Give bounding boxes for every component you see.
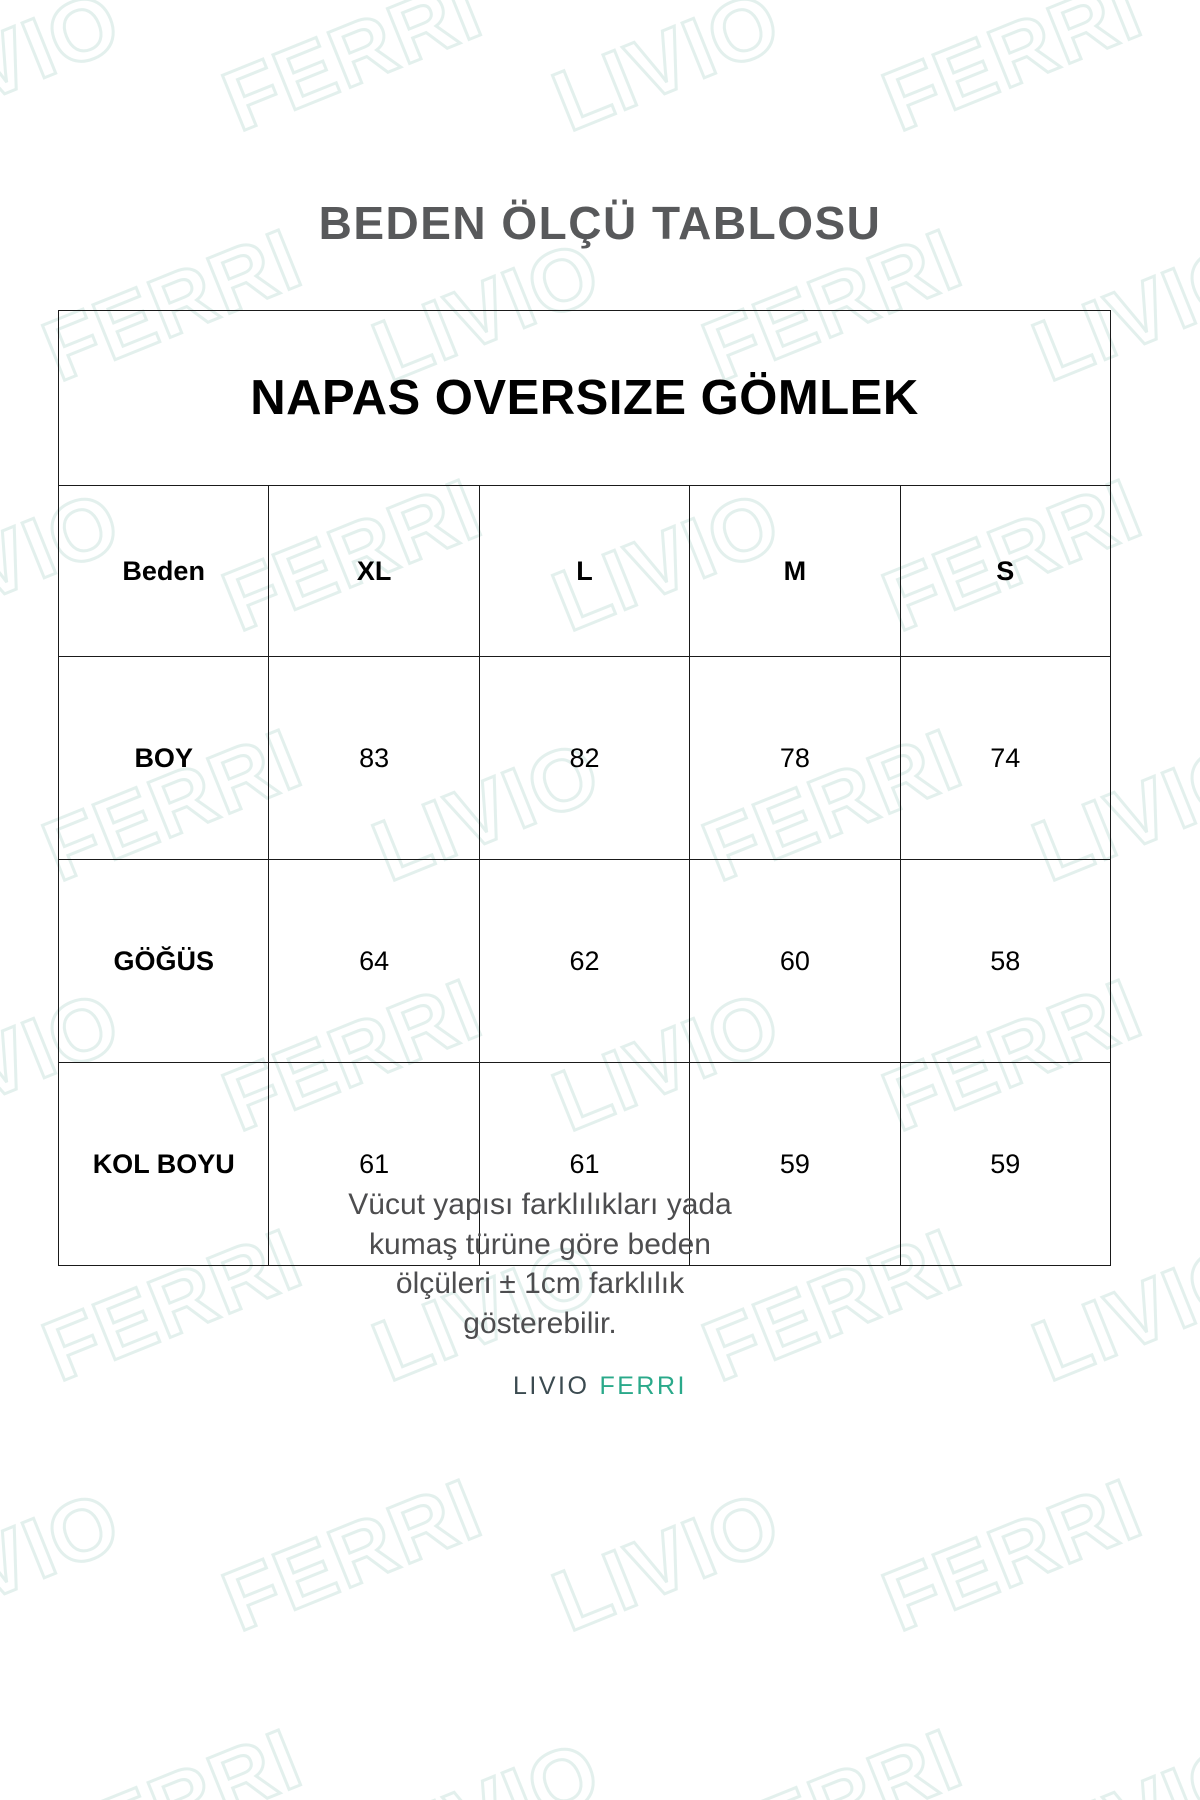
cell-gogus-xl: 64 (269, 860, 479, 1063)
cell-gogus-m: 60 (690, 860, 900, 1063)
product-name-row: NAPAS OVERSIZE GÖMLEK (59, 311, 1111, 486)
brand-logo-second: FERRI (599, 1372, 687, 1400)
table-header-row: Beden XL L M S (59, 486, 1111, 657)
brand-logo-first: LIVIO (513, 1372, 589, 1400)
product-name-cell: NAPAS OVERSIZE GÖMLEK (59, 311, 1111, 486)
cell-boy-m: 78 (690, 657, 900, 860)
table-row: GÖĞÜS 64 62 60 58 (59, 860, 1111, 1063)
footer-note-line-2: kumaş türüne göre beden (240, 1225, 840, 1265)
size-table-container: NAPAS OVERSIZE GÖMLEK Beden XL L M S BOY… (58, 310, 1111, 1266)
column-header-xl: XL (269, 486, 479, 657)
cell-boy-l: 82 (479, 657, 689, 860)
cell-gogus-s: 58 (900, 860, 1110, 1063)
size-chart-page: BEDEN ÖLÇÜ TABLOSU NAPAS OVERSIZE GÖMLEK… (0, 0, 1200, 1800)
column-header-beden: Beden (59, 486, 269, 657)
footer-note-line-3: ölçüleri ± 1cm farklılık (240, 1264, 840, 1304)
table-row: BOY 83 82 78 74 (59, 657, 1111, 860)
cell-kolboyu-s: 59 (900, 1063, 1110, 1266)
cell-gogus-l: 62 (479, 860, 689, 1063)
footer-note-line-1: Vücut yapısı farklılıkları yada (240, 1185, 840, 1225)
cell-boy-s: 74 (900, 657, 1110, 860)
column-header-m: M (690, 486, 900, 657)
column-header-s: S (900, 486, 1110, 657)
cell-boy-xl: 83 (269, 657, 479, 860)
footer-note-line-4: gösterebilir. (240, 1304, 840, 1344)
size-table: NAPAS OVERSIZE GÖMLEK Beden XL L M S BOY… (58, 310, 1111, 1266)
row-label-gogus: GÖĞÜS (59, 860, 269, 1063)
row-label-kol-boyu: KOL BOYU (59, 1063, 269, 1266)
brand-logo: LIVIOFERRI (0, 1372, 1200, 1401)
footer-note: Vücut yapısı farklılıkları yada kumaş tü… (240, 1185, 840, 1343)
row-label-boy: BOY (59, 657, 269, 860)
page-title: BEDEN ÖLÇÜ TABLOSU (0, 196, 1200, 250)
column-header-l: L (479, 486, 689, 657)
